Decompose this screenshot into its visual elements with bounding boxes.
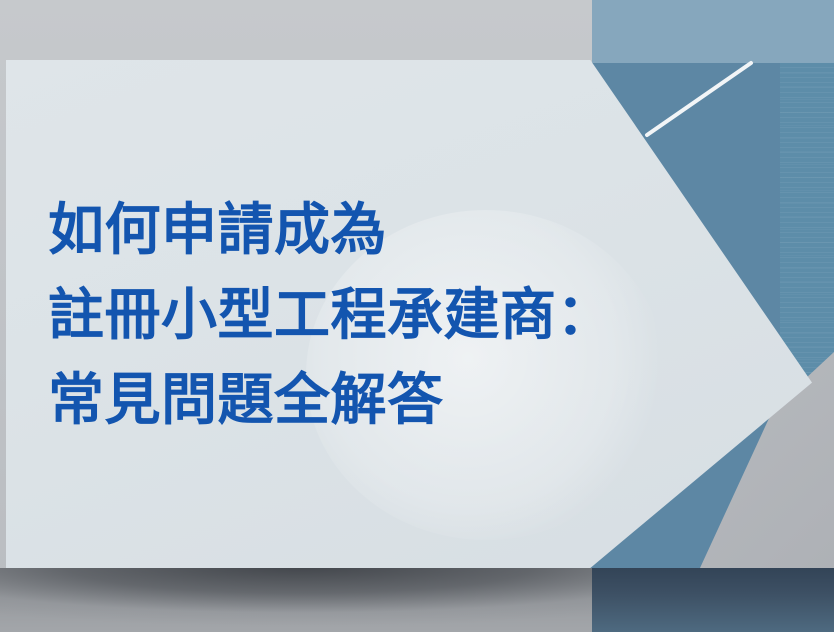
page-title-line-3: 常見問題全解答 [48, 358, 708, 443]
slide-canvas: 如何申請成為 註冊小型工程承建商： 常見問題全解答 [0, 0, 834, 632]
decor-accent-line-icon [644, 60, 754, 138]
bottom-card-shadow [0, 568, 592, 632]
bottom-strip-dark [592, 568, 834, 632]
page-title-line-2: 註冊小型工程承建商： [48, 273, 708, 358]
page-title: 如何申請成為 註冊小型工程承建商： 常見問題全解答 [48, 188, 708, 443]
background-blue-band [592, 0, 834, 63]
page-title-line-1: 如何申請成為 [48, 188, 708, 273]
